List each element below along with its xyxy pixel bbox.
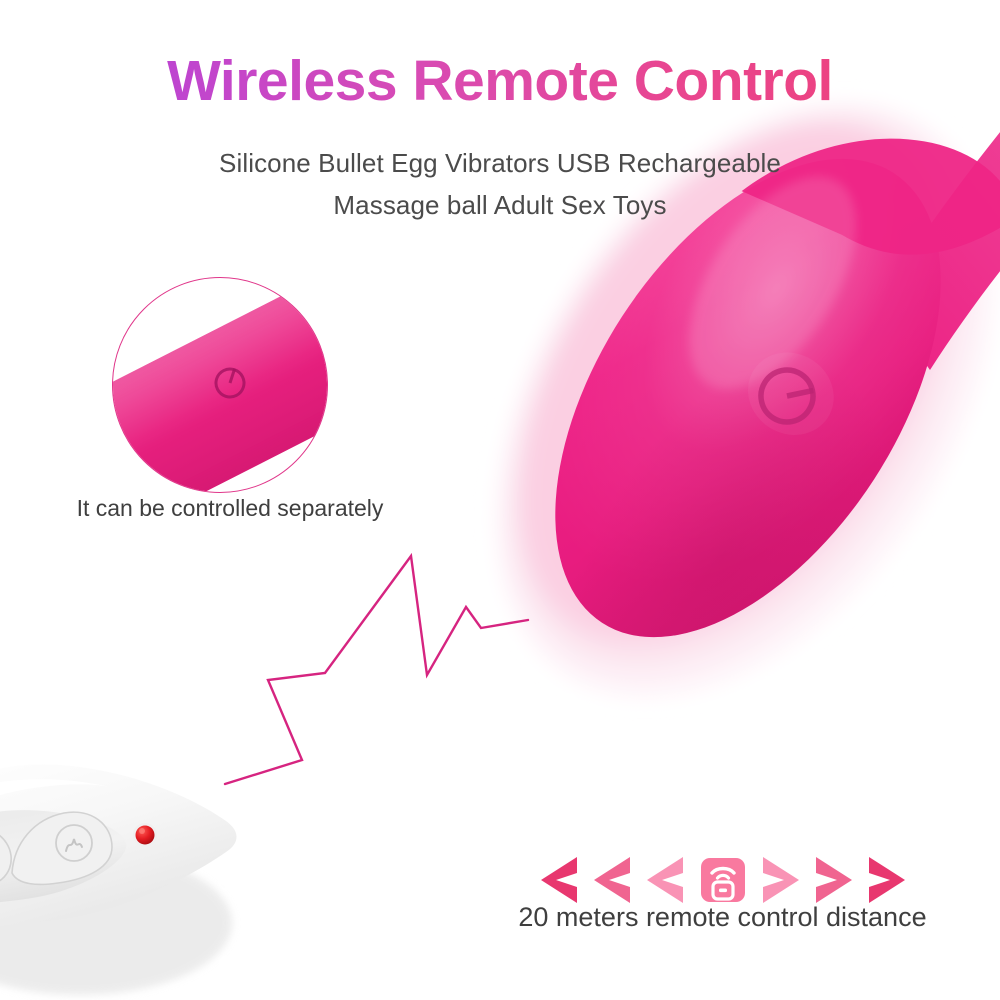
led-indicator [133, 823, 157, 847]
chevron-left-icon-mid [590, 855, 636, 905]
chevron-right-icon-mid [810, 855, 856, 905]
wireless-remote[interactable] [0, 755, 280, 1000]
chevron-left-icon-outer [537, 855, 583, 905]
product-banner: Wireless Remote Control Silicone Bullet … [0, 0, 1000, 1000]
chevron-right-icon-inner [757, 855, 803, 905]
chevron-right-icon-outer [863, 855, 909, 905]
distance-arrows [497, 852, 949, 908]
distance-caption: 20 meters remote control distance [470, 902, 975, 933]
remote-signal-icon [699, 856, 747, 904]
chevron-left-icon-inner [643, 855, 689, 905]
